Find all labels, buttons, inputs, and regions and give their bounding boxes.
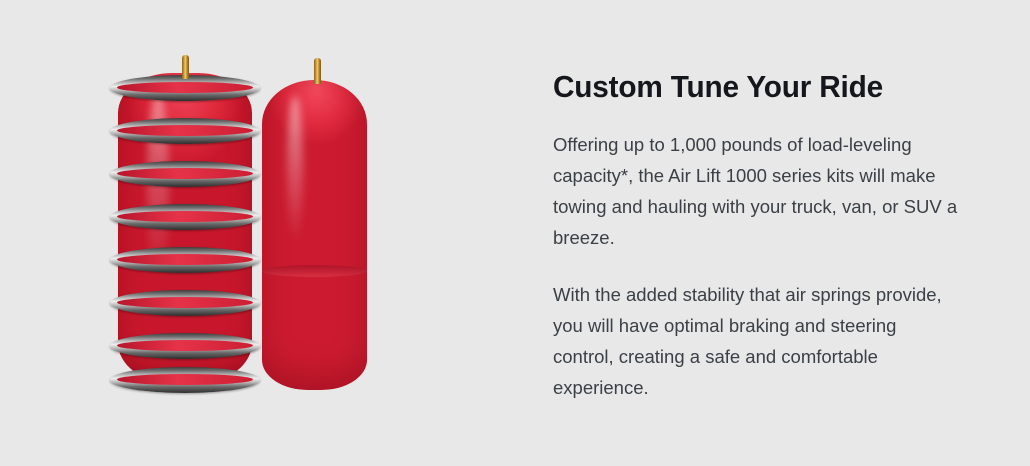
coil-ring (110, 367, 260, 393)
valve-stem-icon (314, 58, 321, 84)
page-title: Custom Tune Your Ride (553, 68, 956, 106)
cylinder-seam (262, 265, 367, 277)
coil-ring (110, 204, 260, 230)
valve-stem-icon (182, 55, 189, 79)
coil-ring (110, 118, 260, 144)
coil-ring (110, 290, 260, 316)
promo-section: Custom Tune Your Ride Offering up to 1,0… (0, 0, 1030, 466)
coil-ring (110, 333, 260, 359)
cylindrical-air-spring-product (262, 58, 372, 396)
product-image (90, 30, 420, 380)
coil-over-air-spring-product (110, 55, 260, 395)
promo-copy: Custom Tune Your Ride Offering up to 1,0… (553, 68, 973, 403)
coil-ring (110, 161, 260, 187)
air-spring-cylinder (262, 80, 367, 390)
coil-ring (110, 247, 260, 273)
promo-paragraph-1: Offering up to 1,000 pounds of load-leve… (553, 129, 961, 253)
promo-paragraph-2: With the added stability that air spring… (553, 279, 961, 403)
